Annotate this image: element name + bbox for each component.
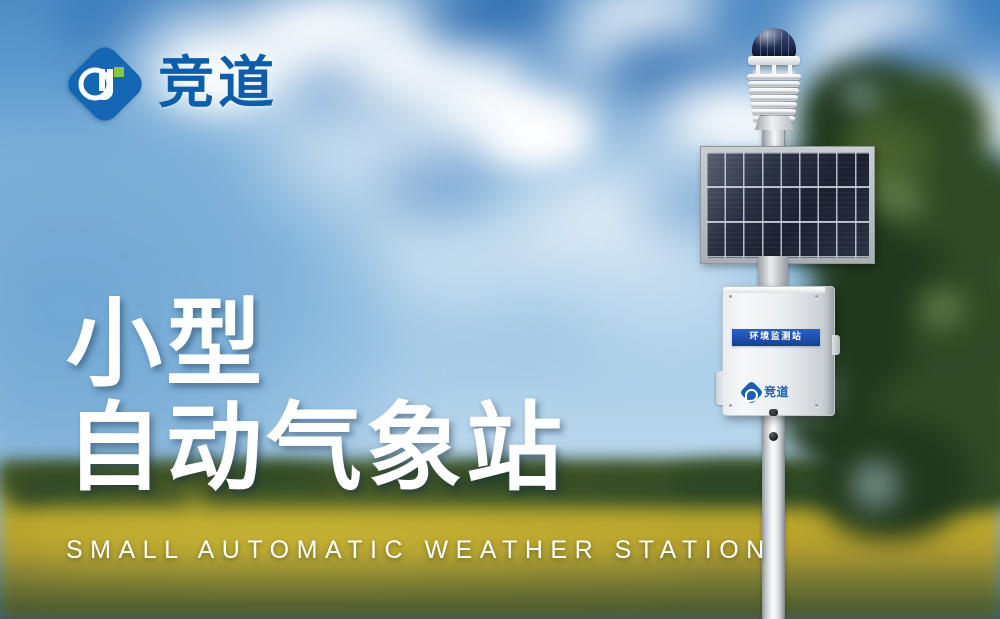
headline-line-1: 小型 bbox=[66, 296, 706, 394]
jingdao-diamond-logo-icon bbox=[66, 45, 144, 123]
headline-line-2: 自动气象站 bbox=[66, 400, 706, 498]
headline-subtitle: SMALL AUTOMATIC WEATHER STATION bbox=[66, 536, 772, 565]
headline-block: 小型 自动气象站 bbox=[66, 296, 706, 498]
solar-panel-icon bbox=[700, 146, 875, 264]
control-box: 环境监测站 竞道 bbox=[722, 286, 835, 416]
solar-panel-cells bbox=[706, 152, 869, 258]
box-right-latch bbox=[832, 335, 840, 355]
control-box-brand-text: 竞道 bbox=[764, 386, 789, 398]
control-box-label-band: 环境监测站 bbox=[732, 329, 820, 346]
panel-mount-bracket bbox=[758, 256, 788, 290]
control-box-label-text: 环境监测站 bbox=[749, 333, 802, 342]
weather-station: 环境监测站 竞道 bbox=[700, 28, 885, 619]
banner-canvas: 环境监测站 竞道 bbox=[0, 0, 1000, 619]
pole-bolt-icon bbox=[769, 432, 778, 441]
ultrasonic-weather-sensor-icon bbox=[752, 28, 796, 58]
box-top-edge bbox=[723, 287, 834, 293]
sensor-collar bbox=[748, 56, 800, 65]
box-left-hinge bbox=[716, 371, 725, 405]
brand-name: 竞道 bbox=[158, 56, 278, 112]
dome-ribs bbox=[752, 28, 796, 58]
brand-logo: 竞道 bbox=[66, 45, 278, 123]
radiation-shield-icon bbox=[747, 74, 801, 122]
sensor-base-taper bbox=[755, 116, 793, 130]
jingdao-diamond-logo-icon bbox=[739, 380, 763, 404]
box-indicator-lens bbox=[769, 409, 778, 416]
control-box-brand: 竞道 bbox=[743, 381, 819, 403]
